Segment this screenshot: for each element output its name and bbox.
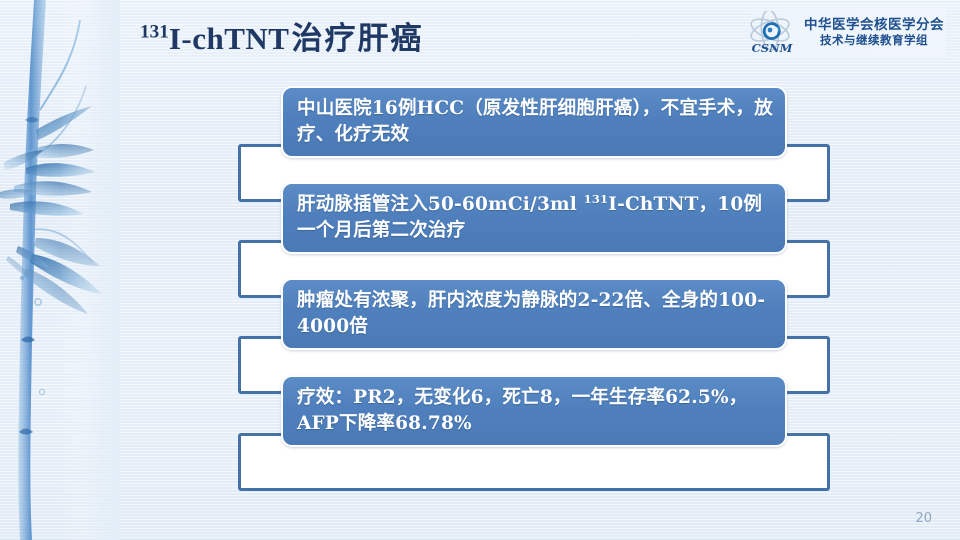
page-number: 20 [915, 511, 932, 526]
callout-box-2[interactable]: 肝动脉插管注入50-60mCi/3ml 131I-ChTNT，10例一个月后第二… [281, 182, 787, 254]
bamboo-ink-painting-icon [0, 0, 120, 540]
organization-logo: CSNM 中华医学会核医学分会 技术与继续教育学组 [746, 8, 946, 58]
logo-line-2: 技术与继续教育学组 [820, 34, 928, 48]
page-title: 131I-chTNT治疗肝癌 [140, 20, 423, 59]
callout-box-1[interactable]: 中山医院16例HCC（原发性肝细胞肝癌），不宜手术，放疗、化疗无效 [281, 86, 787, 158]
svg-text:CSNM: CSNM [752, 41, 794, 55]
callout-text-3-before: 肿瘤处有浓聚，肝内浓度为静脉的2-22倍、全身的100-4000倍 [297, 290, 765, 337]
title-superscript: 131 [140, 22, 169, 43]
callout-text-2-sup: 131 [584, 192, 609, 206]
slide-canvas: 131I-chTNT治疗肝癌 CSNM 中华医学会核医学分会 技术与继续教育学组… [0, 0, 960, 540]
callout-text-2-before: 肝动脉插管注入50-60mCi/3ml [297, 194, 584, 215]
logo-text-block: 中华医学会核医学分会 技术与继续教育学组 [804, 18, 944, 47]
callout-text-4-before: 疗效：PR2，无变化6，死亡8，一年生存率62.5%，AFP下降率68.78% [297, 387, 747, 434]
callout-box-3[interactable]: 肿瘤处有浓聚，肝内浓度为静脉的2-22倍、全身的100-4000倍 [281, 278, 787, 350]
callout-box-4[interactable]: 疗效：PR2，无变化6，死亡8，一年生存率62.5%，AFP下降率68.78% [281, 375, 787, 447]
atom-csnm-logo-icon: CSNM [746, 11, 798, 55]
title-latin: I-chTNT [169, 21, 290, 56]
callout-text-1-before: 中山医院16例HCC（原发性肝细胞肝癌），不宜手术，放疗、化疗无效 [297, 98, 773, 145]
logo-line-1: 中华医学会核医学分会 [804, 18, 944, 34]
title-cjk: 治疗肝癌 [291, 21, 423, 57]
